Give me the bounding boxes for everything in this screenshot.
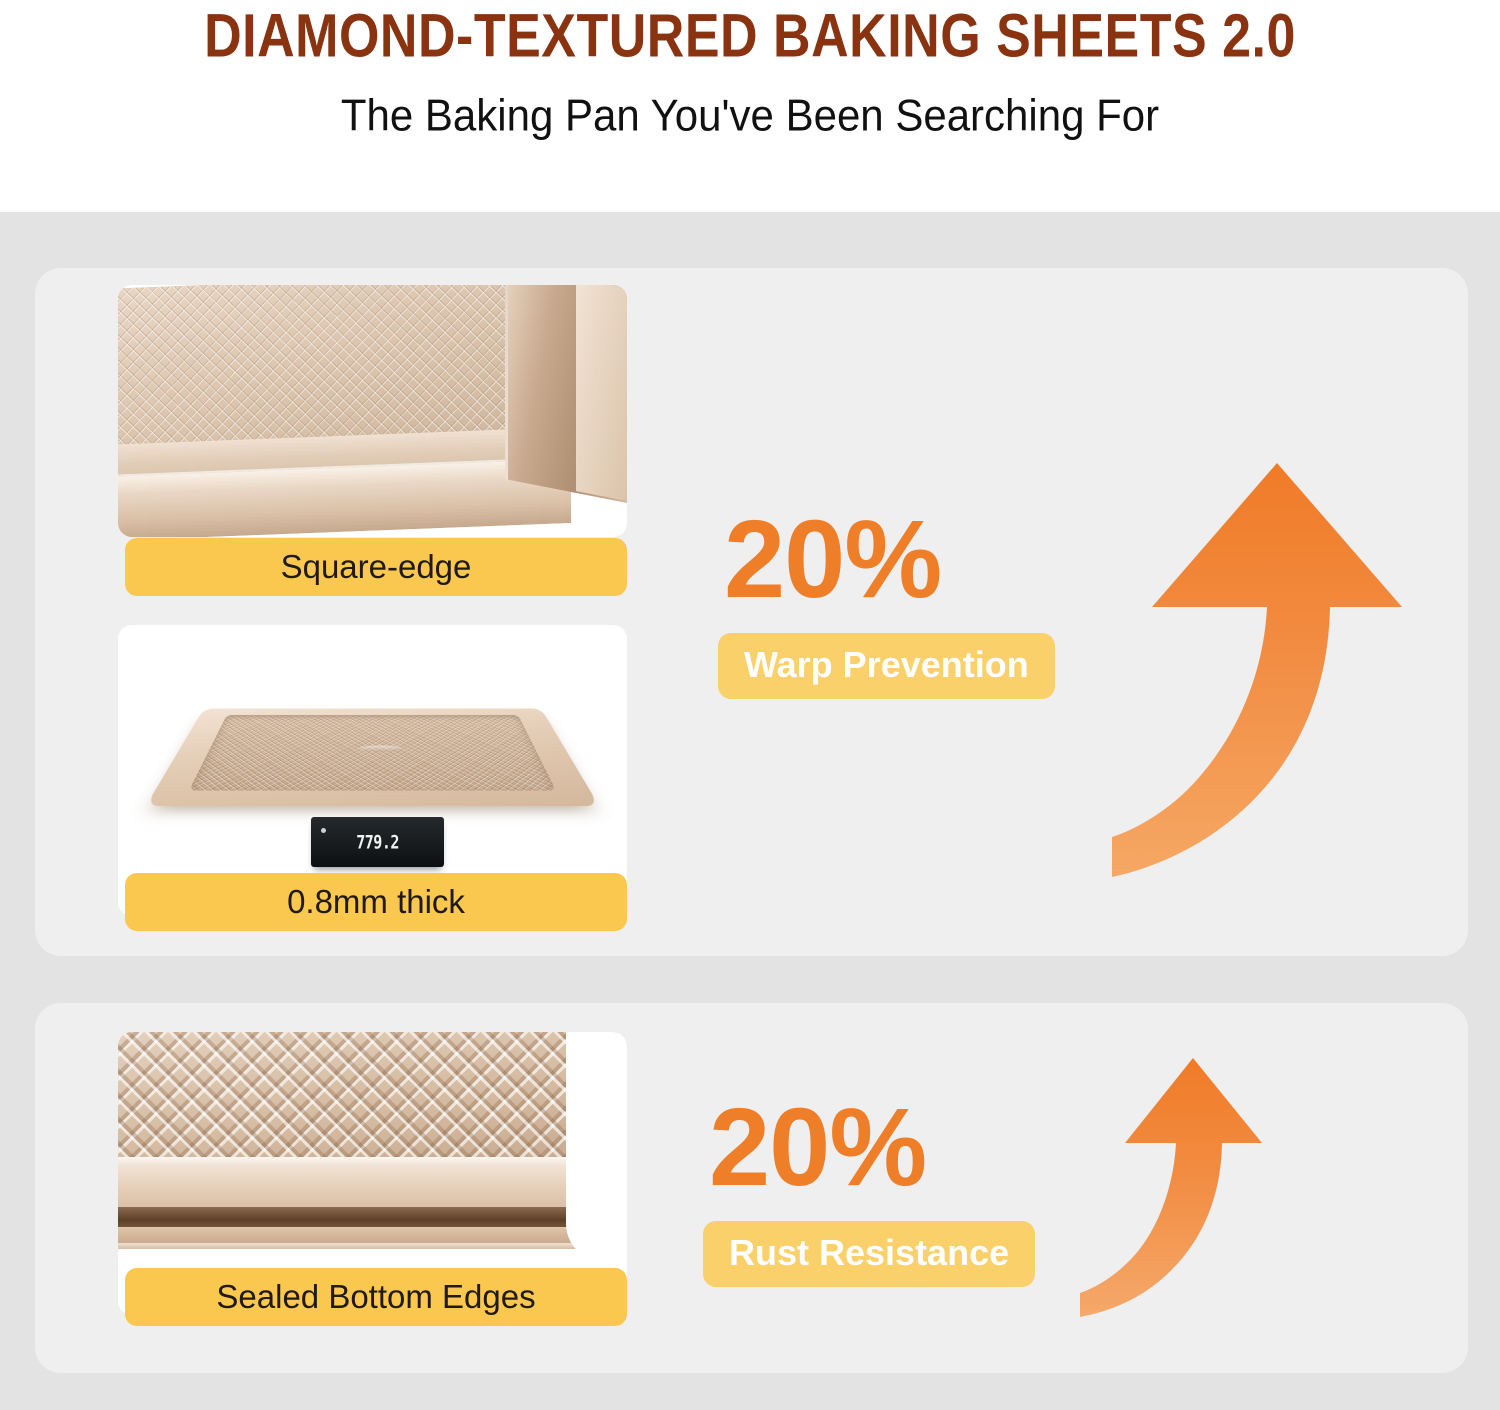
stat-badge-warp-prevention: Warp Prevention	[718, 633, 1055, 699]
pan-logo-emboss	[359, 745, 402, 751]
caption-thickness: 0.8mm thick	[125, 873, 627, 931]
caption-square-edge: Square-edge	[125, 538, 627, 596]
stat-percent-rust: 20%	[709, 1093, 1035, 1203]
baking-sheet-square-edge-image	[118, 285, 627, 537]
stat-rust-resistance: 20% Rust Resistance	[703, 1093, 1035, 1287]
pan-inner-diamond-surface	[189, 715, 556, 791]
baking-pan	[179, 660, 566, 840]
caption-sealed-bottom-edges: Sealed Bottom Edges	[125, 1268, 627, 1326]
scale-display-value: 779.2	[356, 831, 399, 854]
page-subtitle: The Baking Pan You've Been Searching For	[341, 90, 1159, 141]
page-title: DIAMOND-TEXTURED BAKING SHEETS 2.0	[204, 6, 1296, 67]
pan-bottom-thin-edge	[118, 1243, 627, 1249]
stat-badge-rust-resistance: Rust Resistance	[703, 1221, 1035, 1287]
up-curved-arrow-icon	[1112, 455, 1432, 895]
scale-indicator-led	[321, 828, 326, 833]
up-curved-arrow-icon	[1080, 1053, 1340, 1353]
pan-bottom-lip	[118, 1227, 627, 1244]
page-header: DIAMOND-TEXTURED BAKING SHEETS 2.0 The B…	[0, 0, 1500, 212]
stat-warp-prevention: 20% Warp Prevention	[718, 505, 1055, 699]
pan-sealed-seam	[118, 1207, 627, 1228]
stat-percent-warp: 20%	[724, 505, 1055, 615]
pan-side-top-edge	[576, 285, 627, 503]
photo-right-background	[566, 1032, 627, 1270]
digital-scale: 779.2	[311, 817, 443, 866]
photo-card-square-edge	[118, 285, 627, 537]
